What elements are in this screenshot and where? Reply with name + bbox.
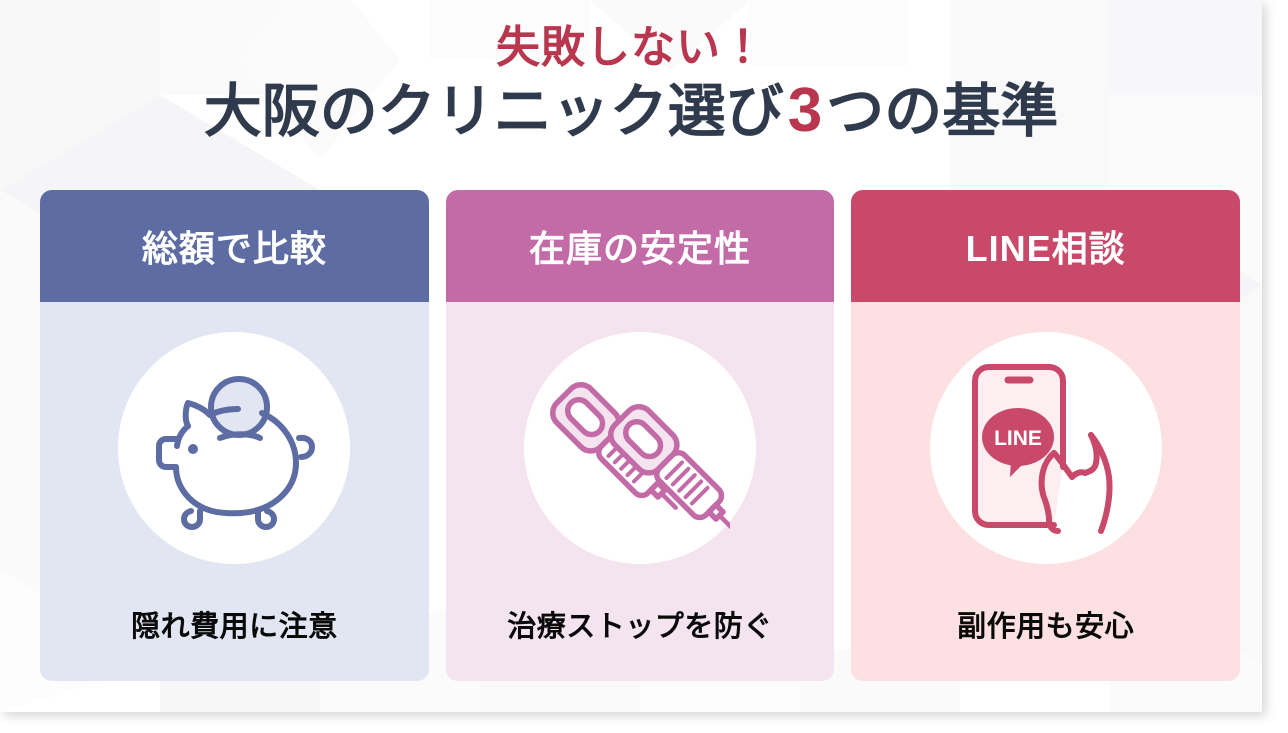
card-header-total-cost: 総額で比較: [40, 190, 429, 302]
card-body-total-cost: 隠れ費用に注意: [40, 302, 429, 681]
icon-circle-line-consult: LINE: [930, 332, 1162, 564]
headline-number: 3: [784, 76, 826, 145]
infographic-page: 失敗しない！ 大阪のクリニック選び3つの基準 総額で比較: [0, 0, 1288, 733]
card-caption-line-consult: 副作用も安心: [957, 603, 1134, 645]
headline-line-2-after: つの基準: [826, 79, 1058, 144]
line-bubble-label: LINE: [994, 427, 1042, 450]
page-sheet: 失敗しない！ 大阪のクリニック選び3つの基準 総額で比較: [0, 0, 1262, 712]
criteria-card-list: 総額で比較: [40, 190, 1240, 681]
card-title-line-consult: LINE相談: [966, 220, 1126, 272]
card-title-total-cost: 総額で比較: [142, 220, 327, 272]
card-body-stock-stability: 治療ストップを防ぐ: [446, 302, 835, 681]
card-title-stock-stability: 在庫の安定性: [529, 220, 751, 272]
headline-line-1: 失敗しない！: [0, 26, 1262, 70]
card-header-line-consult: LINE相談: [851, 190, 1240, 302]
icon-circle-total-cost: [118, 332, 350, 564]
icon-circle-stock-stability: [524, 332, 756, 564]
headline: 失敗しない！ 大阪のクリニック選び3つの基準: [0, 26, 1262, 142]
card-caption-total-cost: 隠れ費用に注意: [131, 603, 338, 645]
card-header-stock-stability: 在庫の安定性: [446, 190, 835, 302]
criteria-card-stock-stability[interactable]: 在庫の安定性: [446, 190, 835, 681]
headline-line-2: 大阪のクリニック選び3つの基準: [0, 80, 1262, 142]
criteria-card-total-cost[interactable]: 総額で比較: [40, 190, 429, 681]
criteria-card-line-consult[interactable]: LINE相談: [851, 190, 1240, 681]
headline-line-2-before: 大阪のクリニック選び: [204, 79, 784, 144]
line-phone-hand-icon: LINE: [955, 359, 1137, 537]
card-caption-stock-stability: 治療ストップを防ぐ: [507, 603, 773, 645]
card-body-line-consult: LINE: [851, 302, 1240, 681]
piggy-bank-icon: [144, 363, 324, 533]
injection-pens-icon: [550, 358, 730, 538]
